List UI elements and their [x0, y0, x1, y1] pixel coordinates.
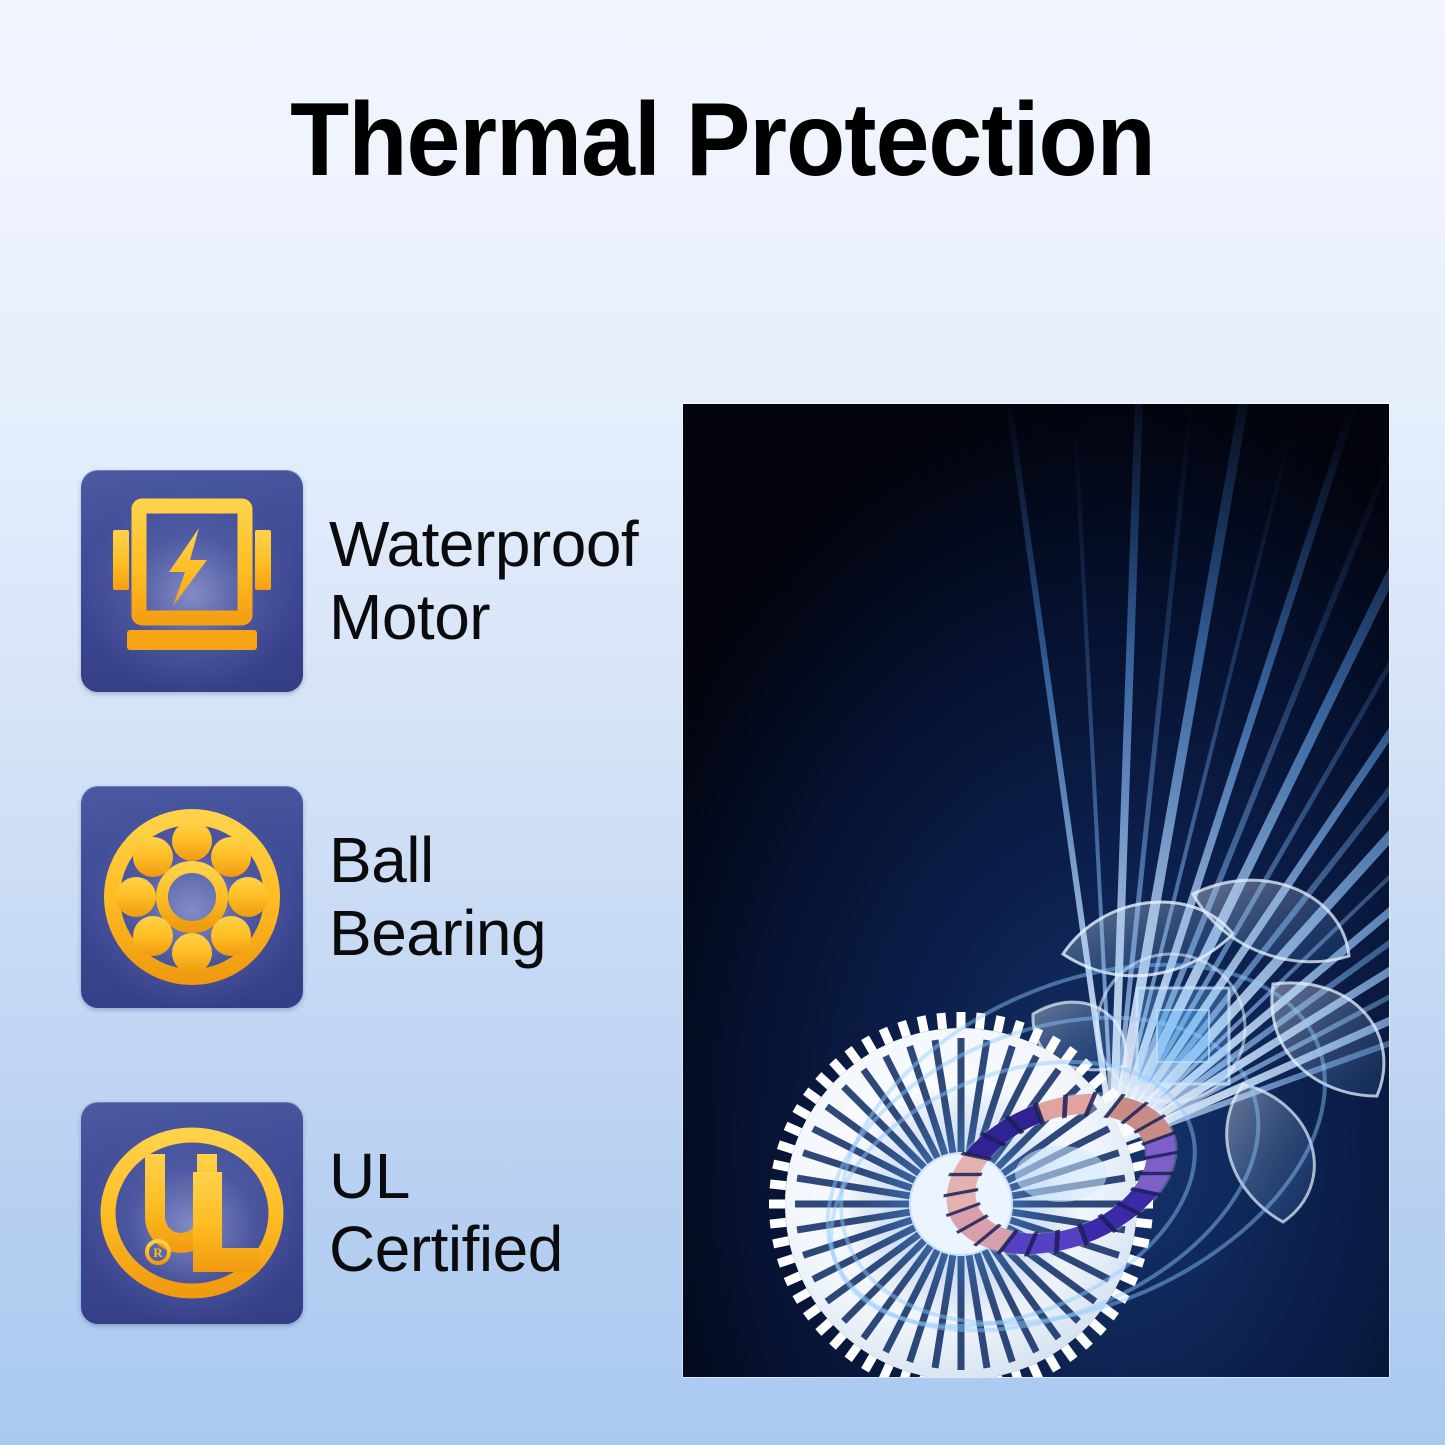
feature-label-line2: Motor — [329, 581, 679, 654]
page-title: Thermal Protection — [51, 84, 1395, 196]
feature-item-ball-bearing: Ball Bearing — [81, 786, 681, 1008]
feature-label: UL Certified — [329, 1102, 679, 1324]
infographic-page: Thermal Protection — [0, 0, 1445, 1445]
feature-label: Waterproof Motor — [329, 470, 679, 692]
feature-label-line2: Certified — [329, 1213, 679, 1286]
ul-certified-icon: R — [81, 1102, 303, 1324]
waterproof-motor-icon — [81, 470, 303, 692]
feature-icon-tile — [81, 786, 303, 1008]
feature-item-waterproof-motor: Waterproof Motor — [81, 470, 681, 692]
feature-label-line1: Waterproof — [329, 508, 679, 581]
feature-label-line1: UL — [329, 1140, 679, 1213]
feature-label-line1: Ball — [329, 824, 679, 897]
product-photo — [683, 404, 1389, 1377]
feature-item-ul-certified: R UL Certified — [81, 1102, 681, 1324]
ball-bearing-icon — [81, 786, 303, 1008]
svg-text:R: R — [153, 1245, 163, 1260]
feature-icon-tile: R — [81, 1102, 303, 1324]
feature-label-line2: Bearing — [329, 897, 679, 970]
feature-icon-tile — [81, 470, 303, 692]
fan-motor-illustration — [683, 404, 1389, 1377]
feature-label: Ball Bearing — [329, 786, 679, 1008]
feature-list: Waterproof Motor — [81, 470, 681, 1324]
